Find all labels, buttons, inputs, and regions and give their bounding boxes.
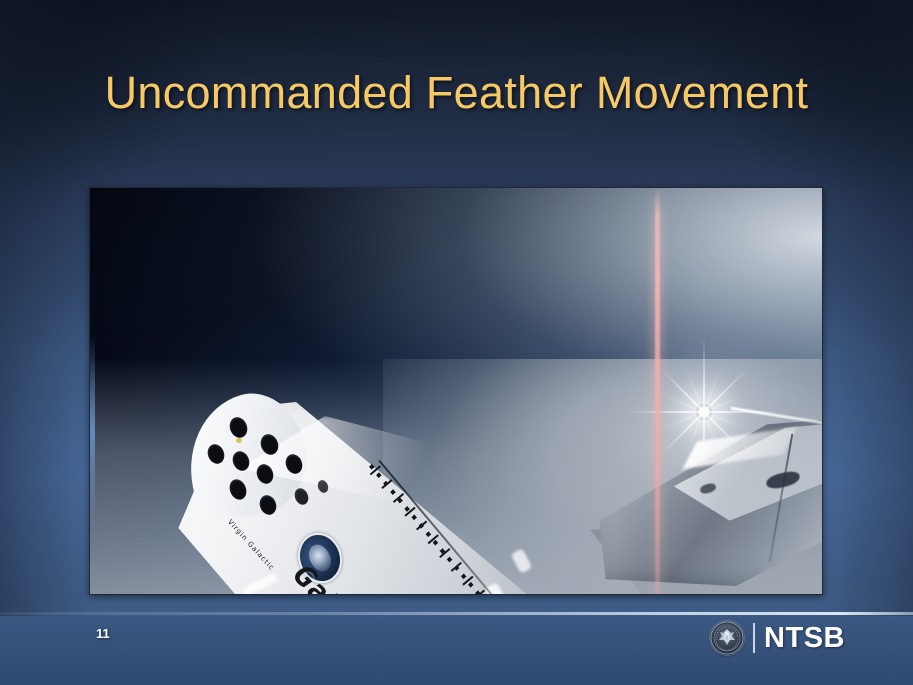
page-number: 11 (96, 626, 110, 641)
footer-accent-rule (0, 612, 913, 615)
ntsb-brand-lockup: NTSB (710, 617, 845, 659)
spaceshiptwo-fuselage-group: Galactic Virgin Virgin Galactic arrow (90, 188, 822, 594)
photo-frame: Galactic Virgin Virgin Galactic arrow (89, 187, 823, 595)
presentation-slide: Uncommanded Feather Movement (0, 0, 913, 685)
spaceshiptwo-feather-deployed-photo: Galactic Virgin Virgin Galactic arrow (90, 188, 822, 594)
brand-divider (753, 623, 755, 653)
belly-light-panel (511, 548, 533, 574)
nose-marker (236, 438, 242, 443)
ntsb-wordmark: NTSB (764, 623, 845, 653)
left-edge-light-sliver (90, 334, 95, 529)
ntsb-eagle-seal-icon (710, 621, 744, 655)
slide-title: Uncommanded Feather Movement (0, 66, 913, 120)
